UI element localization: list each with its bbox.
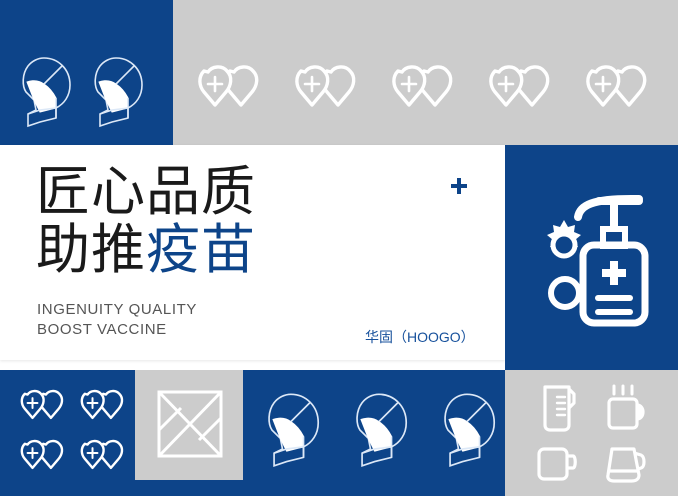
headline-line-1: 匠心品质 bbox=[36, 165, 256, 223]
top-band bbox=[0, 0, 678, 145]
sanitizer-bottle-icon bbox=[521, 183, 661, 338]
top-mask-icon-group bbox=[14, 52, 150, 135]
double-heart-plus-icon bbox=[477, 62, 559, 125]
plus-icon bbox=[449, 176, 469, 196]
headline-line-2-dark: 助推 bbox=[36, 220, 146, 280]
page-title: 匠心品质 助推疫苗 bbox=[36, 165, 256, 281]
masked-head-icon bbox=[259, 388, 327, 475]
bottom-mask-icon-group bbox=[259, 388, 503, 475]
virus-icon bbox=[547, 220, 581, 256]
double-heart-plus-icon bbox=[380, 62, 462, 125]
subtitle: INGENUITY QUALITY BOOST VACCINE bbox=[37, 300, 197, 339]
mug-icon bbox=[523, 436, 591, 492]
brand-name: 华固（HOOGO） bbox=[365, 327, 475, 347]
double-heart-plus-icon bbox=[574, 62, 656, 125]
masked-head-icon bbox=[347, 388, 415, 475]
poster-canvas: 匠心品质 助推疫苗 INGENUITY QUALITY BOOST VACCIN… bbox=[0, 0, 678, 496]
kettle-icon bbox=[591, 436, 659, 492]
bottom-band bbox=[0, 370, 678, 496]
double-heart-plus-icon bbox=[72, 384, 130, 432]
double-heart-plus-icon bbox=[12, 434, 70, 482]
ring-icon bbox=[551, 279, 579, 307]
double-heart-plus-icon bbox=[12, 384, 70, 432]
subtitle-line-1: INGENUITY QUALITY bbox=[37, 300, 197, 320]
measuring-beaker-icon bbox=[523, 380, 591, 436]
subtitle-line-2: BOOST VACCINE bbox=[37, 320, 197, 340]
masked-head-icon bbox=[14, 52, 78, 135]
headline-line-2: 助推疫苗 bbox=[36, 223, 256, 281]
bottom-right-gray-panel bbox=[505, 370, 678, 496]
top-heart-icon-group bbox=[186, 62, 656, 125]
double-heart-plus-icon bbox=[186, 62, 268, 125]
double-heart-plus-icon bbox=[283, 62, 365, 125]
headline-card: 匠心品质 助推疫苗 INGENUITY QUALITY BOOST VACCIN… bbox=[0, 145, 505, 360]
bottom-heart-icon-group bbox=[12, 384, 130, 482]
crossed-box-icon bbox=[157, 390, 223, 463]
headline-line-2-accent: 疫苗 bbox=[146, 220, 256, 280]
double-heart-plus-icon bbox=[72, 434, 130, 482]
bottom-mask-blue-panel bbox=[249, 370, 505, 496]
middle-band: 匠心品质 助推疫苗 INGENUITY QUALITY BOOST VACCIN… bbox=[0, 145, 678, 370]
vessel-icon-group bbox=[523, 380, 659, 492]
masked-head-icon bbox=[435, 388, 503, 475]
steaming-cup-icon bbox=[591, 380, 659, 436]
sanitizer-blue-panel bbox=[505, 145, 678, 370]
image-placeholder-panel bbox=[135, 370, 243, 480]
bottom-left-blue-panel bbox=[0, 370, 249, 496]
masked-head-icon bbox=[86, 52, 150, 135]
